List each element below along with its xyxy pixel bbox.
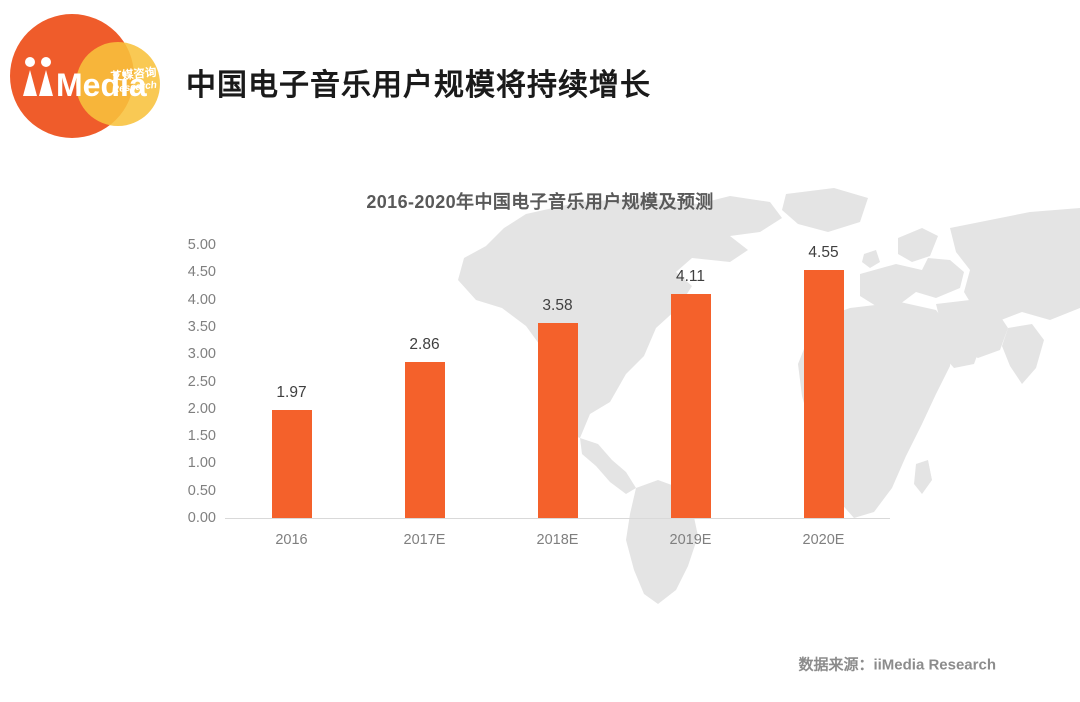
x-axis-line <box>225 518 890 519</box>
bar-value-label: 4.11 <box>676 268 705 286</box>
y-axis-tick-label: 1.50 <box>188 428 216 444</box>
bar-group: 1.97 <box>232 245 352 518</box>
page-title: 中国电子音乐用户规模将持续增长 <box>186 60 651 104</box>
bar-value-label: 3.58 <box>542 297 572 315</box>
bar-2018E[interactable] <box>538 323 578 518</box>
bar-value-label: 4.55 <box>808 244 838 262</box>
y-axis: 5.004.504.003.503.002.502.001.501.000.50… <box>0 150 216 650</box>
y-axis-tick-label: 4.50 <box>188 264 216 280</box>
bar-group: 2.86 <box>365 245 485 518</box>
bar-2016[interactable] <box>272 410 312 518</box>
source-note: 数据来源：iiMedia Research <box>798 654 996 675</box>
y-axis-tick-label: 1.00 <box>188 455 216 471</box>
plot-area: 1.972.863.584.114.55 <box>225 245 890 518</box>
y-axis-tick-label: 3.00 <box>188 346 216 362</box>
page-header: Media 艾媒咨询 Research 中国电子音乐用户规模将持续增长 <box>0 0 1080 150</box>
iimedia-logo: Media 艾媒咨询 Research <box>8 12 178 140</box>
y-axis-tick-label: 0.50 <box>188 483 216 499</box>
bar-2019E[interactable] <box>671 294 711 518</box>
y-axis-tick-label: 5.00 <box>188 237 216 253</box>
bar-value-label: 2.86 <box>409 336 439 354</box>
x-axis-tick-label: 2020E <box>803 532 845 548</box>
y-axis-tick-label: 2.00 <box>188 401 216 417</box>
bar-group: 4.11 <box>631 245 751 518</box>
x-axis-tick-label: 2018E <box>537 532 579 548</box>
x-axis-tick-label: 2019E <box>670 532 712 548</box>
chart-panel: 2016-2020年中国电子音乐用户规模及预测 5.004.504.003.50… <box>0 150 1080 650</box>
y-axis-tick-label: 4.00 <box>188 292 216 308</box>
x-axis-tick-label: 2017E <box>404 532 446 548</box>
bar-group: 3.58 <box>498 245 618 518</box>
y-axis-tick-label: 0.00 <box>188 510 216 526</box>
bar-group: 4.55 <box>764 245 884 518</box>
bar-2020E[interactable] <box>804 270 844 518</box>
bar-value-label: 1.97 <box>276 384 306 402</box>
y-axis-tick-label: 2.50 <box>188 374 216 390</box>
logo-subtext: 艾媒咨询 Research <box>110 65 180 112</box>
chart-page: Media 艾媒咨询 Research 中国电子音乐用户规模将持续增长 <box>0 0 1080 702</box>
bar-2017E[interactable] <box>405 362 445 518</box>
x-axis-tick-label: 2016 <box>275 532 307 548</box>
y-axis-tick-label: 3.50 <box>188 319 216 335</box>
